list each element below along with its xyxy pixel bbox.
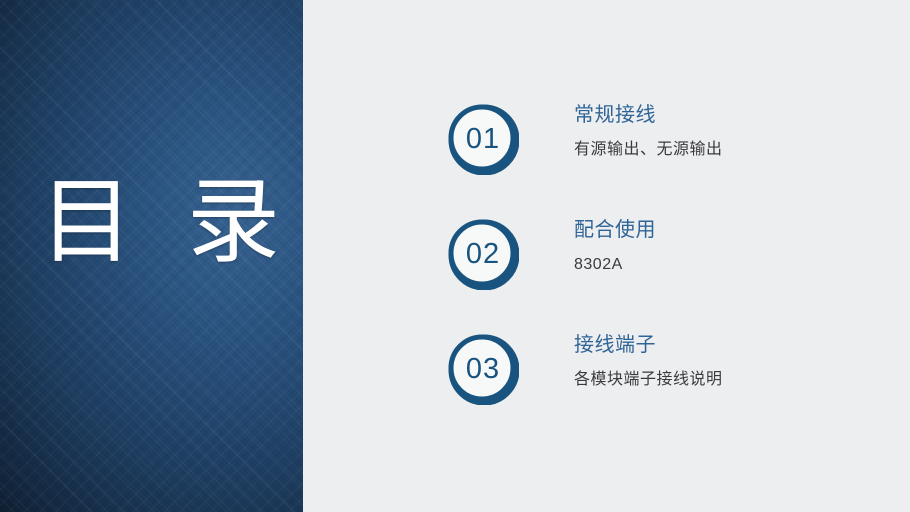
page-title: 目 录 [40,176,280,269]
toc-item-title: 接线端子 [574,333,884,358]
number-circle-icon: 03 [447,333,519,405]
toc-item-03[interactable]: 03 接线端子 各模块端子接线说明 [447,333,887,448]
toc-item-02[interactable]: 02 配合使用 8302A [447,218,887,333]
toc-number-label: 03 [447,333,519,405]
number-circle-icon: 02 [447,218,519,290]
table-of-contents-list: 01 常规接线 有源输出、无源输出 02 配合使用 [447,103,887,448]
toc-item-subtitle: 各模块端子接线说明 [574,370,884,391]
content-area: 01 常规接线 有源输出、无源输出 02 配合使用 [303,0,910,512]
toc-item-title: 配合使用 [574,218,884,243]
toc-number-label: 01 [447,103,519,175]
left-blue-panel: 目 录 [0,0,303,512]
toc-text-block: 接线端子 各模块端子接线说明 [574,333,884,391]
toc-text-block: 常规接线 有源输出、无源输出 [574,103,884,161]
toc-item-subtitle: 8302A [574,255,884,276]
toc-item-title: 常规接线 [574,103,884,128]
number-circle-icon: 01 [447,103,519,175]
toc-item-subtitle: 有源输出、无源输出 [574,140,884,161]
toc-text-block: 配合使用 8302A [574,218,884,276]
toc-item-01[interactable]: 01 常规接线 有源输出、无源输出 [447,103,887,218]
slide-canvas: 目 录 01 常规接线 有源输出、无源输出 [0,0,910,512]
toc-number-label: 02 [447,218,519,290]
